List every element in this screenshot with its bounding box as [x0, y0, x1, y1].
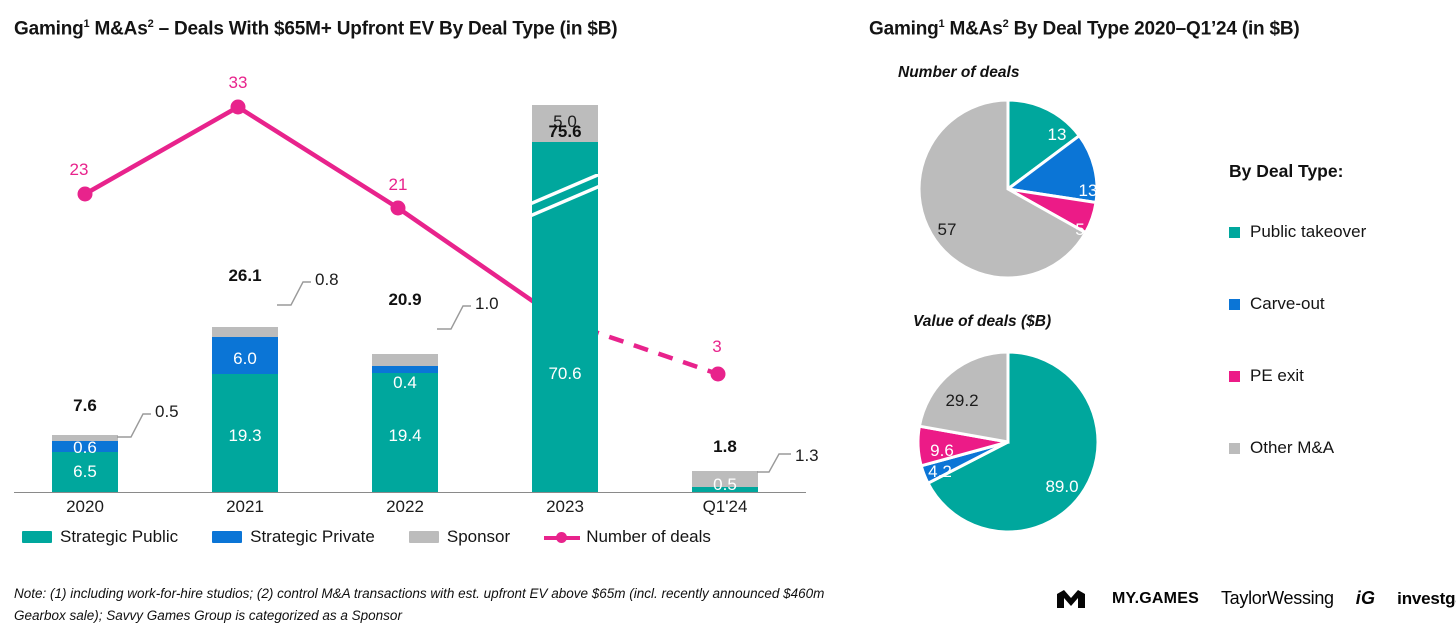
deal-type-legend: By Deal Type: Public takeover Carve-out … — [1229, 161, 1366, 509]
pie1-value-other-ma: 57 — [938, 220, 957, 239]
bar-chart-legend: Strategic Public Strategic Private Spons… — [22, 527, 745, 547]
right-chart-title: Gaming1 M&As2 By Deal Type 2020–Q1’24 (i… — [869, 18, 1300, 40]
legend-line-marker-icon — [544, 530, 580, 544]
legend-swatch-other-ma — [1229, 443, 1240, 454]
bar-2021[interactable]: 19.3 6.0 — [212, 0, 278, 492]
bar-2020-strategic-private — [52, 441, 118, 452]
callout-leader-2021 — [277, 279, 311, 309]
legend-item-carve-out[interactable]: Carve-out — [1229, 293, 1366, 315]
xtick-2021: 2021 — [170, 497, 320, 517]
legend-swatch-sponsor — [409, 531, 439, 543]
callout-q124-sponsor: 1.3 — [795, 446, 819, 466]
bar-2021-strategic-private — [212, 337, 278, 374]
legend-swatch-strategic-public — [22, 531, 52, 543]
bar-2020-strategic-public — [52, 452, 118, 492]
pie-value-of-deals: 89.0 4.2 9.6 29.2 — [884, 350, 1132, 546]
legend-item-strategic-private[interactable]: Strategic Private — [212, 527, 375, 547]
callout-leader-2022 — [437, 303, 471, 333]
investgame-logo-text: investgame — [1397, 589, 1456, 609]
pie2-value-other-ma: 29.2 — [945, 391, 978, 410]
bar-2020-sponsor — [52, 435, 118, 441]
legend-label-public-takeover: Public takeover — [1250, 222, 1366, 242]
legend-item-strategic-public[interactable]: Strategic Public — [22, 527, 178, 547]
bar-2022-strategic-public — [372, 373, 438, 492]
bar-2021-sponsor — [212, 327, 278, 337]
bar-2021-strategic-public — [212, 374, 278, 492]
legend-item-other-ma[interactable]: Other M&A — [1229, 437, 1366, 459]
legend-label-pe-exit: PE exit — [1250, 366, 1304, 386]
ig-logo-mark: iG — [1356, 588, 1375, 609]
legend-item-sponsor[interactable]: Sponsor — [409, 527, 510, 547]
pie2-value-public-takeover: 89.0 — [1045, 477, 1078, 496]
pie1-value-pe-exit: 5 — [1075, 220, 1084, 239]
bar-2020[interactable]: 6.5 0.6 — [52, 0, 118, 492]
callout-2020-sponsor: 0.5 — [155, 402, 179, 422]
legend-label-strategic-private: Strategic Private — [250, 527, 375, 547]
xtick-2022: 2022 — [330, 497, 480, 517]
legend-swatch-public-takeover — [1229, 227, 1240, 238]
bar-2022-sponsor — [372, 354, 438, 366]
right-title-c: By Deal Type 2020–Q1’24 (in $B) — [1009, 18, 1300, 39]
callout-leader-2020 — [117, 411, 151, 441]
axis-break-marker — [532, 174, 598, 224]
footnote-text: Note: (1) including work-for-hire studio… — [14, 583, 864, 627]
bar-q124[interactable]: 0.5 — [692, 0, 758, 492]
chart-page: Gaming1 M&As2 – Deals With $65M+ Upfront… — [0, 0, 1456, 640]
x-axis-line — [14, 492, 806, 493]
xtick-2020: 2020 — [10, 497, 160, 517]
legend-item-pe-exit[interactable]: PE exit — [1229, 365, 1366, 387]
bar-2022-strategic-private — [372, 366, 438, 373]
right-title-b: M&As — [944, 18, 1002, 39]
xtick-q124: Q1'24 — [650, 497, 800, 517]
xtick-2023: 2023 — [490, 497, 640, 517]
pie-number-of-deals-title: Number of deals — [898, 64, 1019, 82]
pie-number-of-deals: 13 13 5 57 — [884, 96, 1132, 282]
legend-item-number-of-deals[interactable]: Number of deals — [544, 527, 711, 547]
taylorwessing-logo-text: TaylorWessing — [1221, 588, 1334, 609]
callout-2021-sponsor: 0.8 — [315, 270, 339, 290]
bar-q124-sponsor — [692, 471, 758, 487]
callout-leader-q124 — [757, 451, 791, 476]
legend-label-sponsor: Sponsor — [447, 527, 510, 547]
deal-type-legend-title: By Deal Type: — [1229, 161, 1366, 182]
bar-2023[interactable]: 70.6 5.0 — [532, 0, 598, 492]
legend-label-strategic-public: Strategic Public — [60, 527, 178, 547]
pie1-value-carve-out: 13 — [1079, 181, 1098, 200]
bar-2023-total: 75.6 — [505, 122, 625, 142]
legend-label-number-of-deals: Number of deals — [586, 527, 711, 547]
legend-item-public-takeover[interactable]: Public takeover — [1229, 221, 1366, 243]
legend-swatch-carve-out — [1229, 299, 1240, 310]
legend-swatch-pe-exit — [1229, 371, 1240, 382]
legend-label-carve-out: Carve-out — [1250, 294, 1325, 314]
mygames-logo-text: MY.GAMES — [1112, 590, 1199, 608]
pie-value-of-deals-title: Value of deals ($B) — [913, 313, 1051, 331]
pie2-value-carve-out: 4.2 — [928, 462, 952, 481]
pie2-value-pe-exit: 9.6 — [930, 441, 954, 460]
mygames-logo-icon — [1056, 589, 1090, 609]
callout-2022-sponsor: 1.0 — [475, 294, 499, 314]
legend-swatch-strategic-private — [212, 531, 242, 543]
partner-logos: MY.GAMES TaylorWessing iG investgame — [1056, 588, 1456, 609]
legend-label-other-ma: Other M&A — [1250, 438, 1334, 458]
pie1-value-public-takeover: 13 — [1048, 125, 1067, 144]
right-title-a: Gaming — [869, 18, 939, 39]
bar-2022[interactable]: 19.4 0.4 — [372, 0, 438, 492]
